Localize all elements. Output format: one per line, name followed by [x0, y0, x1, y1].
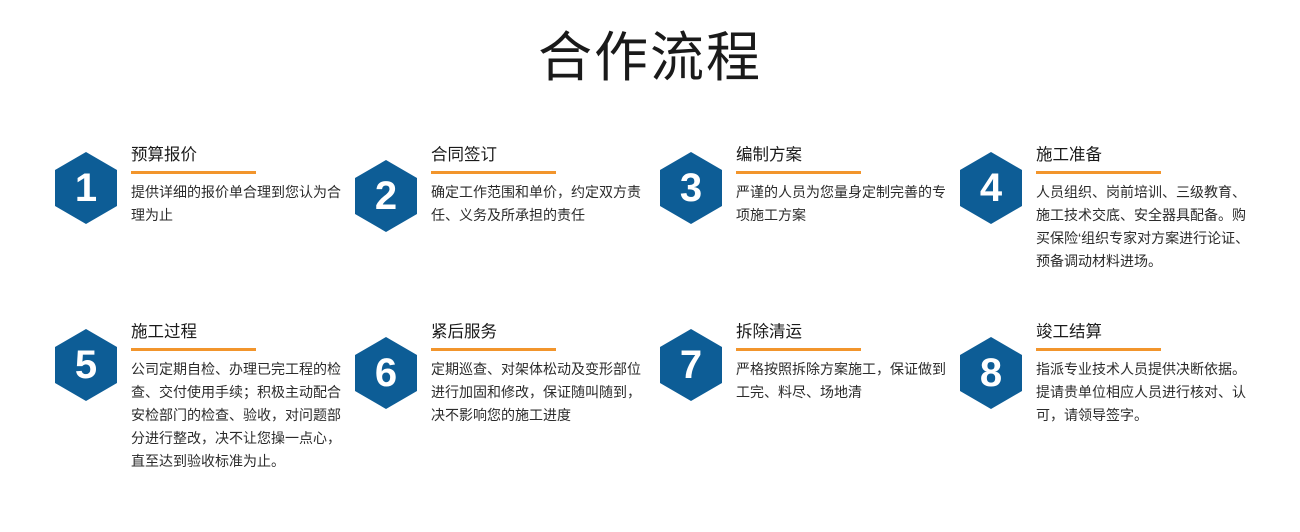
step-number: 5	[55, 329, 117, 401]
step-number: 8	[960, 337, 1022, 409]
step-description: 提供详细的报价单合理到您认为合理为止	[131, 181, 353, 227]
cooperation-process-infographic: 合作流程 1 预算报价 提供详细的报价单合理到您认为合理为止	[0, 0, 1300, 532]
step-title: 合同签订	[431, 144, 653, 166]
step-badge: 2	[355, 160, 417, 232]
step-description: 确定工作范围和单价，约定双方责任、义务及所承担的责任	[431, 181, 653, 227]
step-description: 指派专业技术人员提供决断依据。提请贵单位相应人员进行核对、认可，请领导签字。	[1036, 358, 1258, 427]
step-title: 施工过程	[131, 321, 353, 343]
step-number: 6	[355, 337, 417, 409]
step-number: 2	[355, 160, 417, 232]
step-number: 3	[660, 152, 722, 224]
step-body: 施工过程 公司定期自检、办理已完工程的检查、交付使用手续；积极主动配合安检部门的…	[131, 321, 353, 473]
step-number: 4	[960, 152, 1022, 224]
step-description: 定期巡查、对架体松动及变形部位进行加固和修改，保证随叫随到，决不影响您的施工进度	[431, 358, 653, 427]
step-body: 合同签订 确定工作范围和单价，约定双方责任、义务及所承担的责任	[431, 144, 653, 227]
step-title-underline	[1036, 171, 1161, 174]
step-description: 人员组织、岗前培训、三级教育、施工技术交底、安全器具配备。购买保险‘组织专家对方…	[1036, 181, 1258, 273]
step-title-underline	[431, 348, 556, 351]
step-title: 紧后服务	[431, 321, 653, 343]
step-body: 拆除清运 严格按照拆除方案施工，保证做到工完、料尽、场地清	[736, 321, 958, 404]
step-body: 编制方案 严谨的人员为您量身定制完善的专项施工方案	[736, 144, 958, 227]
step-title-underline	[431, 171, 556, 174]
step-body: 施工准备 人员组织、岗前培训、三级教育、施工技术交底、安全器具配备。购买保险‘组…	[1036, 144, 1258, 273]
step-title: 施工准备	[1036, 144, 1258, 166]
step-title: 竣工结算	[1036, 321, 1258, 343]
step-title-underline	[736, 171, 861, 174]
step-badge: 4	[960, 152, 1022, 224]
page-title: 合作流程	[0, 22, 1300, 94]
step-title-underline	[1036, 348, 1161, 351]
step-badge: 7	[660, 329, 722, 401]
step-badge: 5	[55, 329, 117, 401]
step-title-underline	[736, 348, 861, 351]
step-badge: 6	[355, 337, 417, 409]
step-title-underline	[131, 348, 256, 351]
step-description: 严格按照拆除方案施工，保证做到工完、料尽、场地清	[736, 358, 958, 404]
step-badge: 1	[55, 152, 117, 224]
step-number: 1	[55, 152, 117, 224]
step-title: 拆除清运	[736, 321, 958, 343]
step-description: 严谨的人员为您量身定制完善的专项施工方案	[736, 181, 958, 227]
step-body: 紧后服务 定期巡查、对架体松动及变形部位进行加固和修改，保证随叫随到，决不影响您…	[431, 321, 653, 427]
step-badge: 3	[660, 152, 722, 224]
step-body: 竣工结算 指派专业技术人员提供决断依据。提请贵单位相应人员进行核对、认可，请领导…	[1036, 321, 1258, 427]
step-title: 编制方案	[736, 144, 958, 166]
step-description: 公司定期自检、办理已完工程的检查、交付使用手续；积极主动配合安检部门的检查、验收…	[131, 358, 353, 473]
step-badge: 8	[960, 337, 1022, 409]
step-number: 7	[660, 329, 722, 401]
step-title-underline	[131, 171, 256, 174]
step-title: 预算报价	[131, 144, 353, 166]
step-body: 预算报价 提供详细的报价单合理到您认为合理为止	[131, 144, 353, 227]
